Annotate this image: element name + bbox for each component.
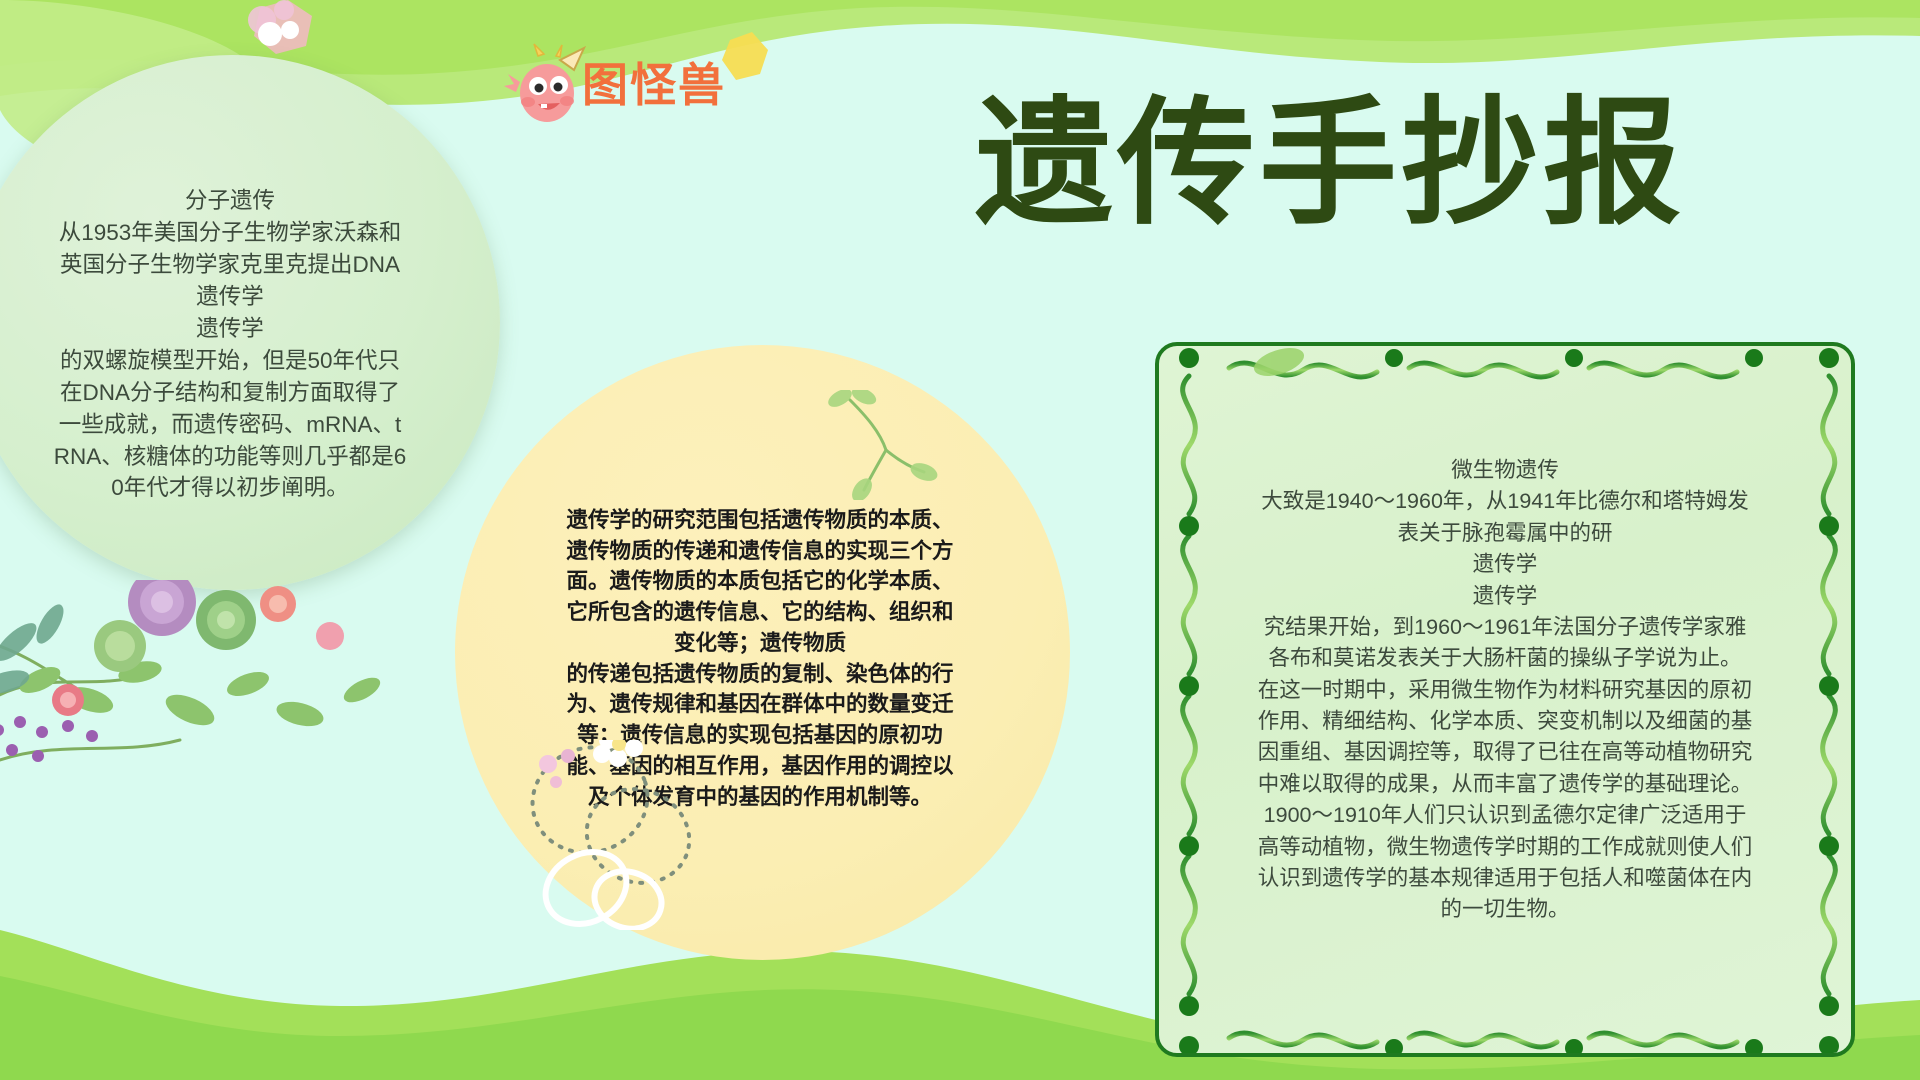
molecular-genetics-body: 从1953年美国分子生物学家沃森和 英国分子生物学家克里克提出DNA 遗传学 遗… (0, 217, 480, 504)
microbial-genetics-text: 微生物遗传 大致是1940～1960年，从1941年比德尔和塔特姆发 表关于脉孢… (1175, 455, 1835, 957)
watermark-logo: 图怪兽 (500, 40, 750, 130)
flower-icon (539, 749, 575, 788)
succulent-flower-cluster (0, 580, 500, 840)
white-flower-icon (593, 740, 643, 767)
leaf-sprig-icon (240, 0, 440, 60)
microbial-genetics-heading: 微生物遗传 (1451, 458, 1559, 482)
molecular-genetics-heading: 分子遗传 (185, 188, 275, 213)
microbial-genetics-body: 大致是1940～1960年，从1941年比德尔和塔特姆发 表关于脉孢霉属中的研 … (1175, 486, 1835, 925)
leaf-sprig-icon (820, 390, 950, 500)
watermark-brand-text: 图怪兽 (582, 62, 726, 108)
pink-monster-mascot-icon (500, 40, 590, 130)
dotted-rings-decoration (520, 740, 730, 930)
poster-canvas: 分子遗传 从1953年美国分子生物学家沃森和 英国分子生物学家克里克提出DNA … (0, 0, 1920, 1080)
succulent-icon (94, 580, 256, 672)
page-title: 遗传手抄报 (975, 95, 1685, 233)
molecular-genetics-text: 分子遗传 从1953年美国分子生物学家沃森和 英国分子生物学家克里克提出DNA … (0, 185, 480, 536)
